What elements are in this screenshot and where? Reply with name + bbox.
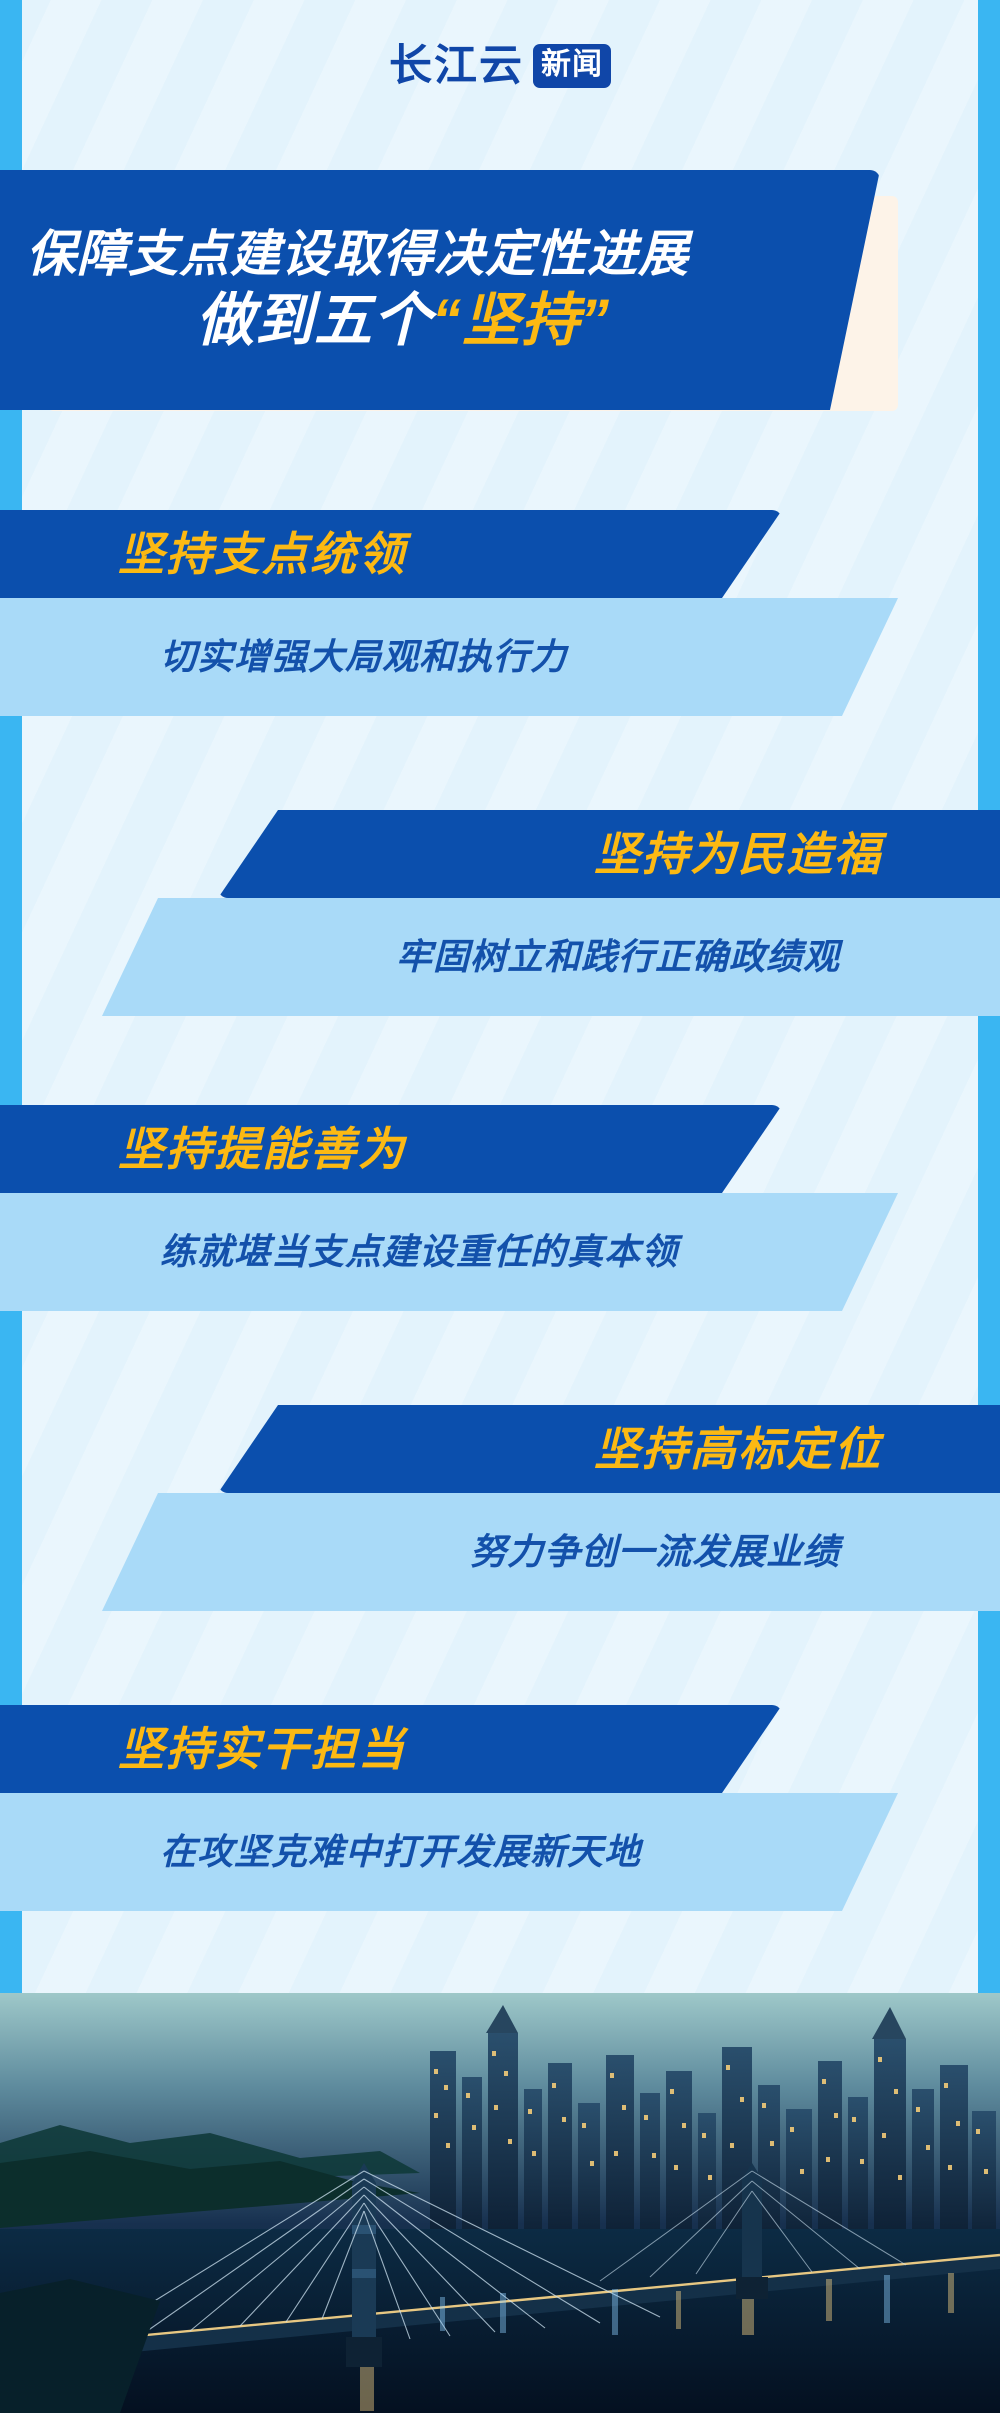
title-quote-open: “: [432, 288, 462, 353]
section-2-heading: 坚持为民造福: [594, 831, 882, 877]
brand-logo: 长江云 新闻: [0, 44, 1000, 88]
section-5: 坚持实干担当 在攻坚克难中打开发展新天地: [0, 1705, 1000, 1911]
section-1-body-band: 切实增强大局观和执行力: [0, 598, 898, 716]
section-3-heading: 坚持提能善为: [118, 1126, 406, 1172]
section-1-heading: 坚持支点统领: [118, 531, 406, 577]
section-3-body-band: 练就堪当支点建设重任的真本领: [0, 1193, 898, 1311]
skyline-illustration: [0, 1993, 1000, 2413]
section-5-heading-band: 坚持实干担当: [0, 1705, 782, 1793]
title-banner: 保障支点建设取得决定性进展 做到五个“坚持”: [0, 170, 880, 410]
title-quote-close: ”: [580, 288, 610, 353]
section-1: 坚持支点统领 切实增强大局观和执行力: [0, 510, 1000, 716]
section-5-body: 在攻坚克难中打开发展新天地: [160, 1834, 641, 1870]
section-5-heading: 坚持实干担当: [118, 1726, 406, 1772]
main-title-block: 保障支点建设取得决定性进展 做到五个“坚持”: [0, 170, 1000, 440]
section-4-heading: 坚持高标定位: [594, 1426, 882, 1472]
section-3: 坚持提能善为 练就堪当支点建设重任的真本领: [0, 1105, 1000, 1311]
section-1-body: 切实增强大局观和执行力: [160, 639, 567, 675]
brand-badge: 新闻: [533, 44, 611, 88]
section-4: 坚持高标定位 努力争创一流发展业绩: [0, 1405, 1000, 1611]
city-skyline-night-photo: [0, 1993, 1000, 2413]
section-2: 坚持为民造福 牢固树立和践行正确政绩观: [0, 810, 1000, 1016]
page-title-line2: 做到五个“坚持”: [26, 285, 790, 358]
section-4-heading-band: 坚持高标定位: [218, 1405, 1000, 1493]
section-1-heading-band: 坚持支点统领: [0, 510, 782, 598]
section-4-body-band: 努力争创一流发展业绩: [102, 1493, 1000, 1611]
brand-name: 长江云: [389, 45, 524, 88]
section-2-body-band: 牢固树立和践行正确政绩观: [102, 898, 1000, 1016]
page-title-line1: 保障支点建设取得决定性进展: [26, 223, 790, 286]
section-5-body-band: 在攻坚克难中打开发展新天地: [0, 1793, 898, 1911]
section-2-body: 牢固树立和践行正确政绩观: [396, 939, 840, 975]
section-3-heading-band: 坚持提能善为: [0, 1105, 782, 1193]
title-line2-prefix: 做到五个: [196, 288, 432, 353]
section-3-body: 练就堪当支点建设重任的真本领: [160, 1234, 678, 1270]
poster-root: 长江云 新闻 保障支点建设取得决定性进展 做到五个“坚持” 坚持支点统领 切实增…: [0, 0, 1000, 2413]
section-2-heading-band: 坚持为民造福: [218, 810, 1000, 898]
section-4-body: 努力争创一流发展业绩: [470, 1534, 840, 1570]
title-highlight: 坚持: [462, 288, 580, 353]
